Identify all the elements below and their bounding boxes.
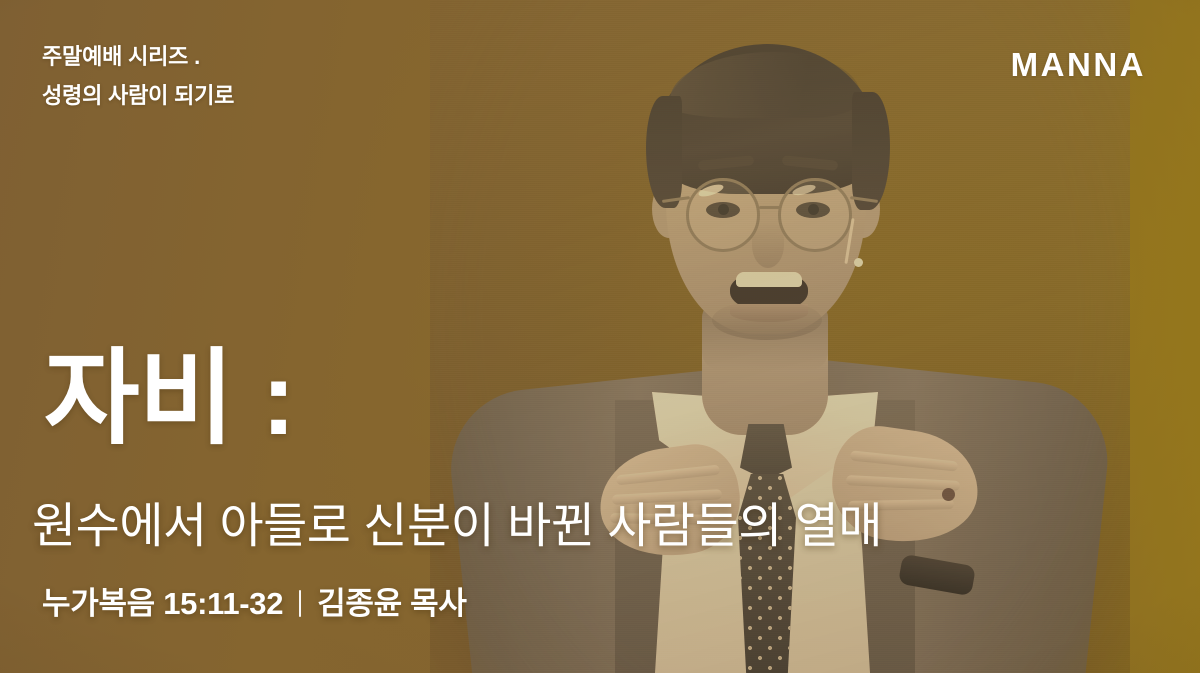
scripture-reference: 누가복음 15:11-32	[42, 585, 283, 622]
speaker-name: 김종윤 목사	[317, 585, 466, 622]
text-layer: 주말예배 시리즈 . 성령의 사람이 되기로 MANNA 자비 : 원수에서 아…	[0, 0, 1200, 673]
meta-separator	[299, 590, 301, 617]
manna-logo: MANNA	[1011, 48, 1146, 81]
series-heading: 주말예배 시리즈 . 성령의 사람이 되기로	[42, 42, 234, 112]
series-label-line1: 주말예배 시리즈 .	[42, 42, 234, 73]
sermon-title-card: 주말예배 시리즈 . 성령의 사람이 되기로 MANNA 자비 : 원수에서 아…	[0, 0, 1200, 673]
sermon-subtitle: 원수에서 아들로 신분이 바뀐 사람들의 열매	[32, 498, 882, 556]
sermon-meta: 누가복음 15:11-32 김종윤 목사	[42, 585, 467, 622]
series-label-line2: 성령의 사람이 되기로	[42, 81, 234, 112]
sermon-title: 자비 :	[44, 343, 295, 455]
